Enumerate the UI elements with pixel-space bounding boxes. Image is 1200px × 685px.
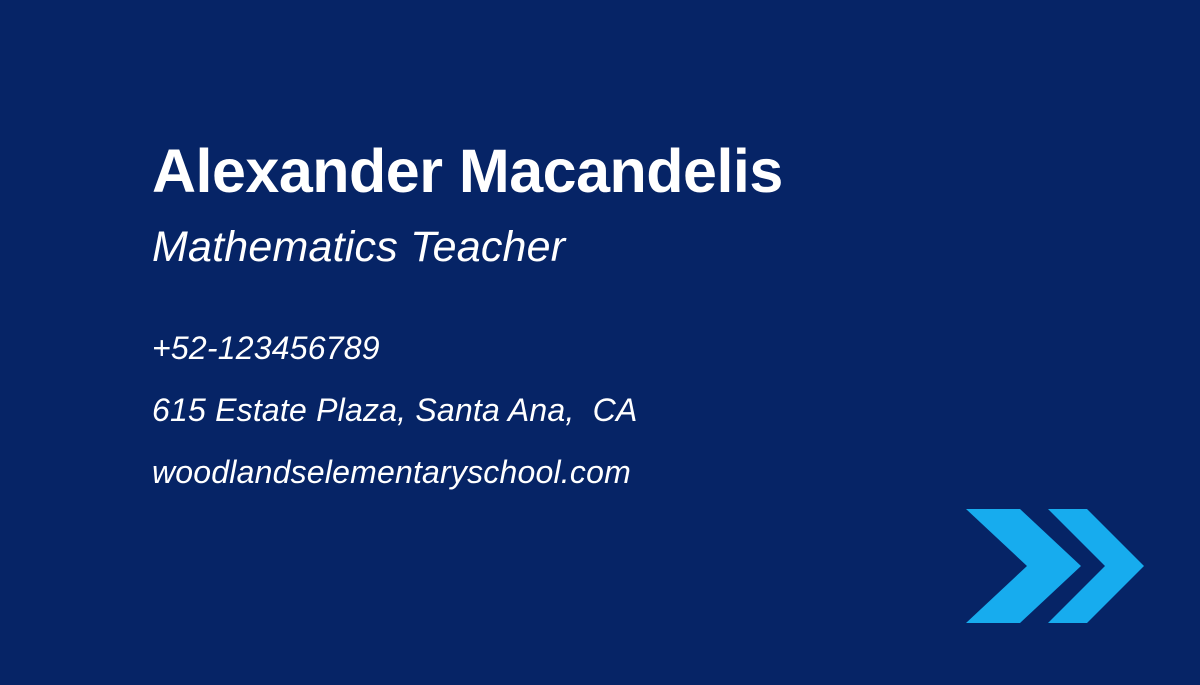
chevron-right-icon-first: [966, 509, 1081, 623]
business-card: Alexander Macandelis Mathematics Teacher…: [0, 0, 1200, 685]
contact-phone[interactable]: +52-123456789: [152, 332, 638, 364]
contact-address: 615 Estate Plaza, Santa Ana, CA: [152, 394, 638, 426]
person-name: Alexander Macandelis: [152, 139, 783, 203]
double-chevron-right-icon: [962, 505, 1148, 627]
person-job-title: Mathematics Teacher: [152, 224, 565, 271]
card-text-block: Alexander Macandelis Mathematics Teacher…: [152, 0, 1052, 685]
contact-list: +52-123456789 615 Estate Plaza, Santa An…: [152, 332, 638, 488]
contact-website[interactable]: woodlandselementaryschool.com: [152, 456, 638, 488]
